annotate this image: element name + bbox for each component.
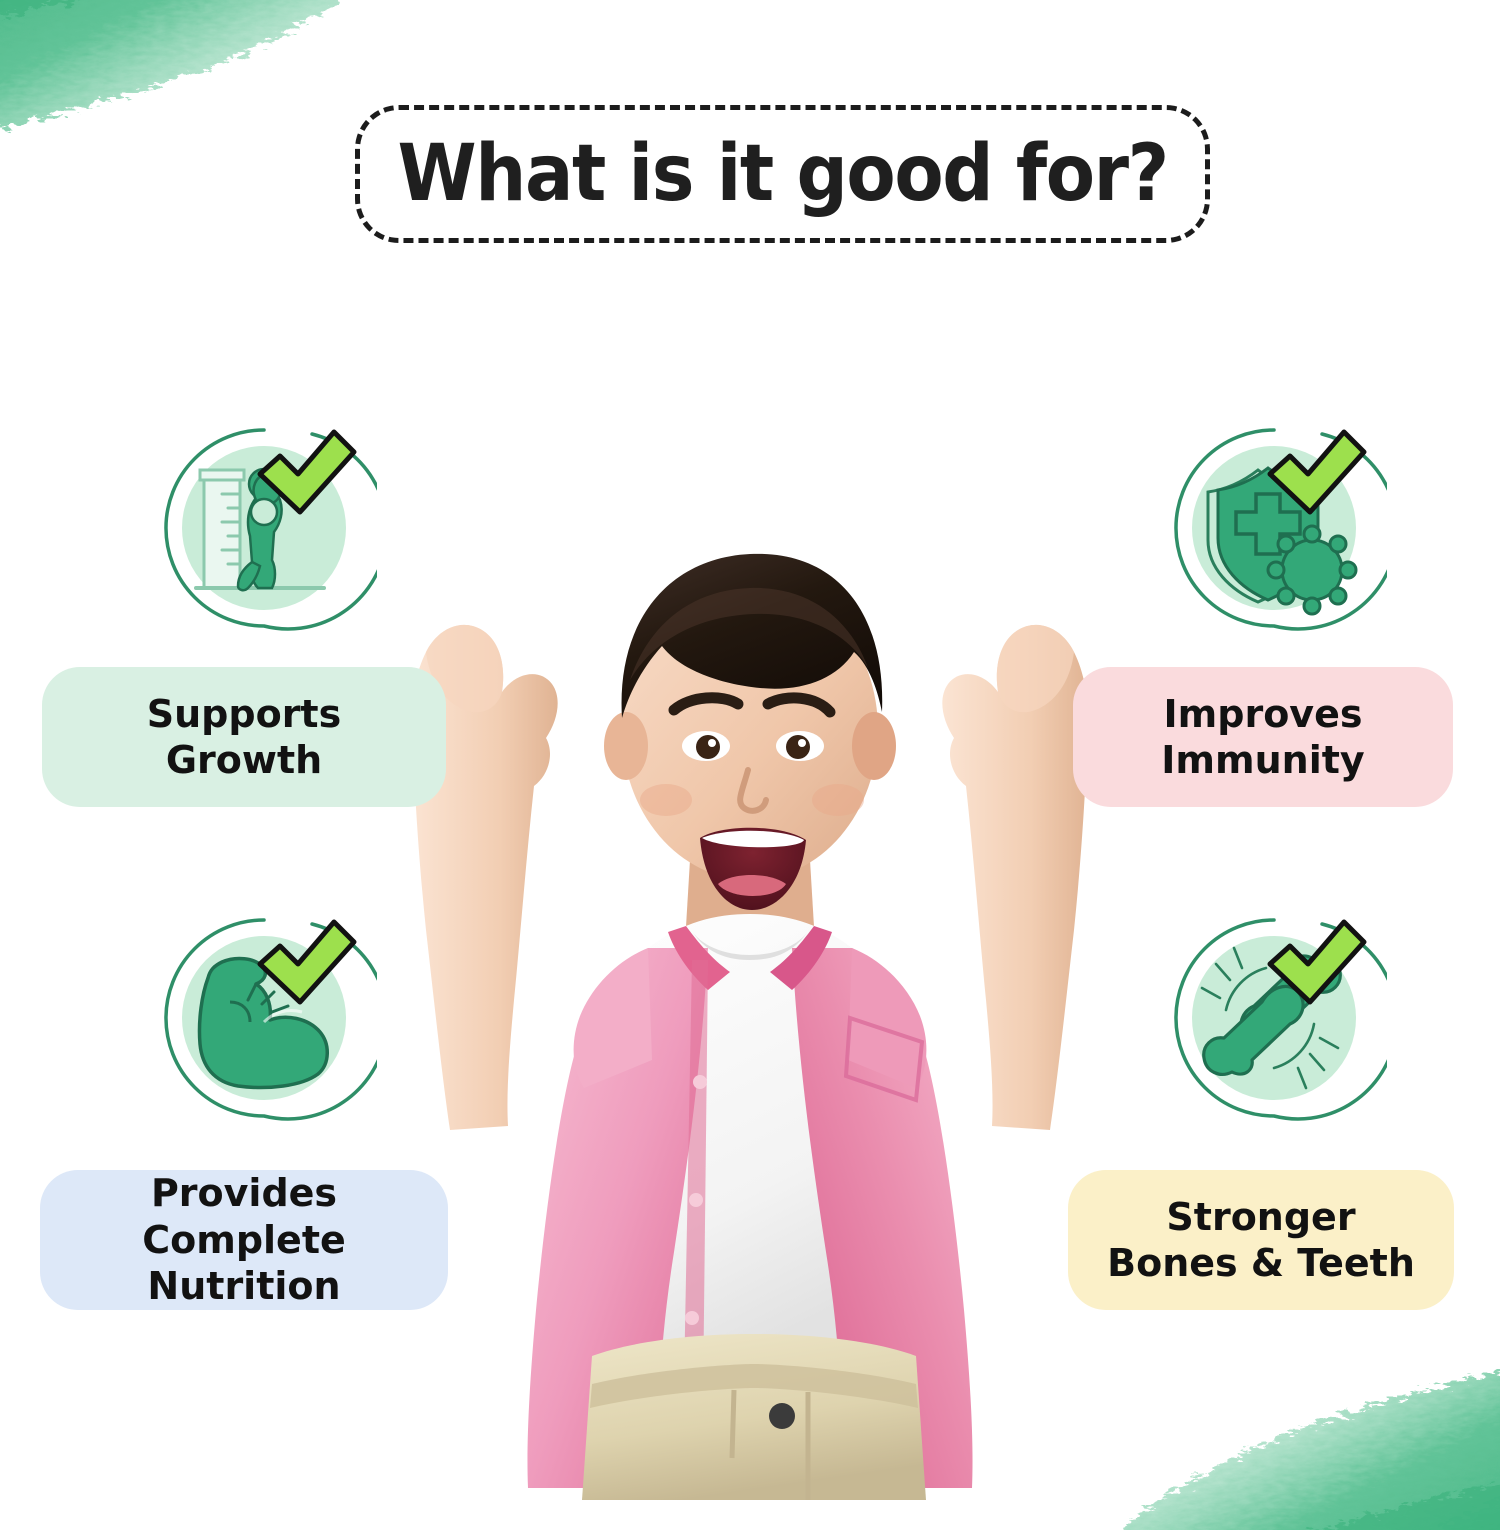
pants-button-icon (769, 1403, 795, 1429)
benefit-icon-nutrition (152, 902, 377, 1127)
benefit-chip-immunity[interactable]: Improves Immunity (1073, 667, 1453, 807)
benefit-chip-growth[interactable]: Supports Growth (42, 667, 446, 807)
benefit-icon-immunity (1162, 412, 1387, 637)
benefit-label-growth: Supports Growth (68, 691, 420, 784)
section-title-box: What is it good for? (355, 105, 1210, 243)
benefit-icon-bones (1162, 902, 1387, 1127)
benefit-chip-bones[interactable]: Stronger Bones & Teeth (1068, 1170, 1454, 1310)
benefit-label-bones: Stronger Bones & Teeth (1107, 1194, 1415, 1287)
benefit-label-nutrition: Provides Complete Nutrition (66, 1170, 422, 1309)
benefit-icon-growth (152, 412, 377, 637)
child-face (604, 554, 896, 910)
benefit-label-immunity: Improves Immunity (1161, 691, 1364, 784)
hero-child-photo (330, 300, 1170, 1500)
page-title: What is it good for? (397, 129, 1167, 219)
benefit-chip-nutrition[interactable]: Provides Complete Nutrition (40, 1170, 448, 1310)
